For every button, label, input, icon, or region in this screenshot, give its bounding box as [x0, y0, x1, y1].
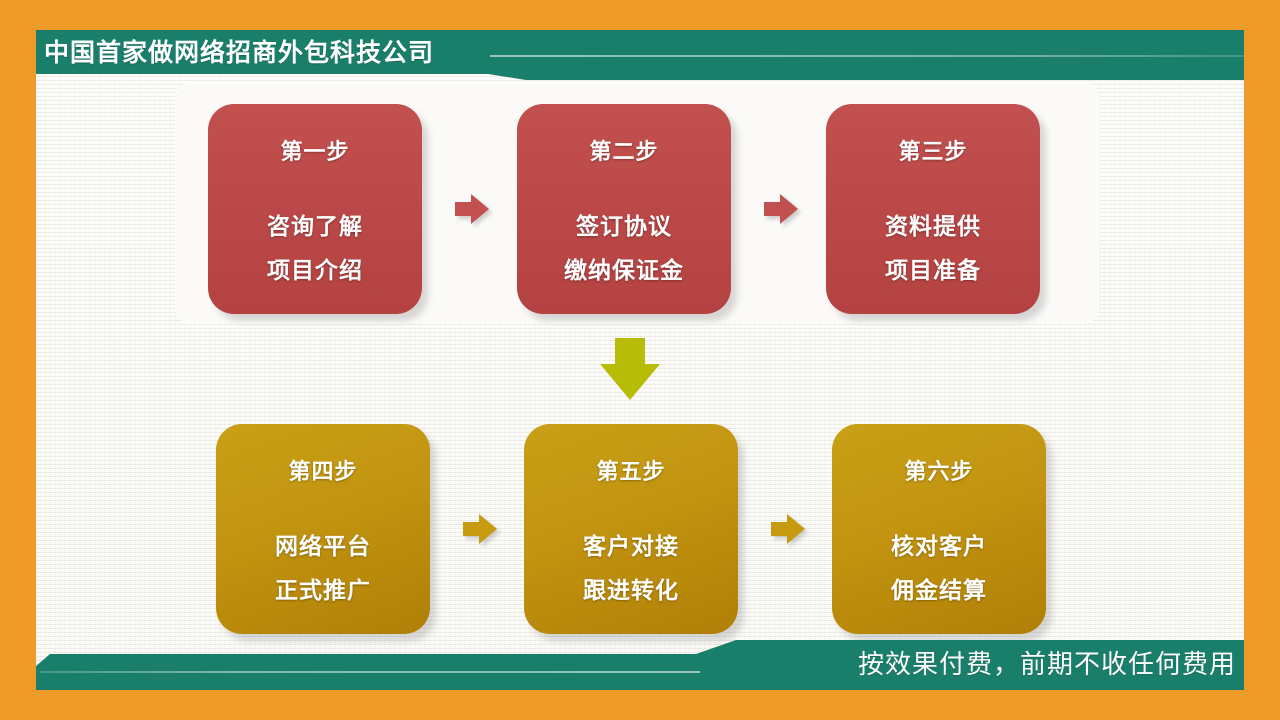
step-card-4-line-1: 网络平台 [275, 524, 371, 568]
arrow-right-icon [463, 514, 497, 544]
step-card-1[interactable]: 第一步 咨询了解 项目介绍 [208, 104, 422, 314]
step-card-6-line-2: 佣金结算 [891, 568, 987, 612]
step-card-2-line-1: 签订协议 [564, 204, 684, 248]
step-card-3-title: 第三步 [898, 134, 967, 166]
step-card-4-body: 网络平台 正式推广 [275, 524, 371, 612]
arrow-right-icon [764, 194, 798, 224]
step-card-4[interactable]: 第四步 网络平台 正式推广 [216, 424, 430, 634]
step-card-3[interactable]: 第三步 资料提供 项目准备 [826, 104, 1040, 314]
step-card-5-title: 第五步 [596, 454, 665, 486]
footer-tagline: 按效果付费，前期不收任何费用 [858, 646, 1236, 682]
step-card-4-title: 第四步 [288, 454, 357, 486]
arrow-down-icon [600, 338, 660, 400]
arrow-head [600, 364, 660, 400]
arrow-head [471, 194, 489, 224]
arrow-head [787, 514, 805, 544]
arrow-head [479, 514, 497, 544]
header-divider-line [490, 55, 1244, 57]
step-card-3-line-1: 资料提供 [885, 204, 981, 248]
step-card-5[interactable]: 第五步 客户对接 跟进转化 [524, 424, 738, 634]
step-card-6-title: 第六步 [904, 454, 973, 486]
step-card-5-line-2: 跟进转化 [583, 568, 679, 612]
arrow-head [780, 194, 798, 224]
step-card-6[interactable]: 第六步 核对客户 佣金结算 [832, 424, 1046, 634]
step-card-2-line-2: 缴纳保证金 [564, 248, 684, 292]
step-card-1-title: 第一步 [280, 134, 349, 166]
step-card-2-body: 签订协议 缴纳保证金 [564, 204, 684, 292]
step-card-6-line-1: 核对客户 [891, 524, 987, 568]
step-card-5-line-1: 客户对接 [583, 524, 679, 568]
page-title: 中国首家做网络招商外包科技公司 [44, 35, 434, 71]
arrow-right-icon [771, 514, 805, 544]
arrow-shaft [615, 338, 645, 366]
step-card-3-line-2: 项目准备 [885, 248, 981, 292]
step-card-2-title: 第二步 [589, 134, 658, 166]
step-card-1-line-1: 咨询了解 [267, 204, 363, 248]
step-card-6-body: 核对客户 佣金结算 [891, 524, 987, 612]
step-card-1-line-2: 项目介绍 [267, 248, 363, 292]
slide-root: 中国首家做网络招商外包科技公司 第一步 咨询了解 项目介绍 第二步 签订协议 缴… [0, 0, 1280, 720]
step-card-5-body: 客户对接 跟进转化 [583, 524, 679, 612]
arrow-right-icon [455, 194, 489, 224]
step-card-4-line-2: 正式推广 [275, 568, 371, 612]
step-card-1-body: 咨询了解 项目介绍 [267, 204, 363, 292]
step-card-3-body: 资料提供 项目准备 [885, 204, 981, 292]
step-card-2[interactable]: 第二步 签订协议 缴纳保证金 [517, 104, 731, 314]
footer-divider-line [40, 671, 700, 673]
